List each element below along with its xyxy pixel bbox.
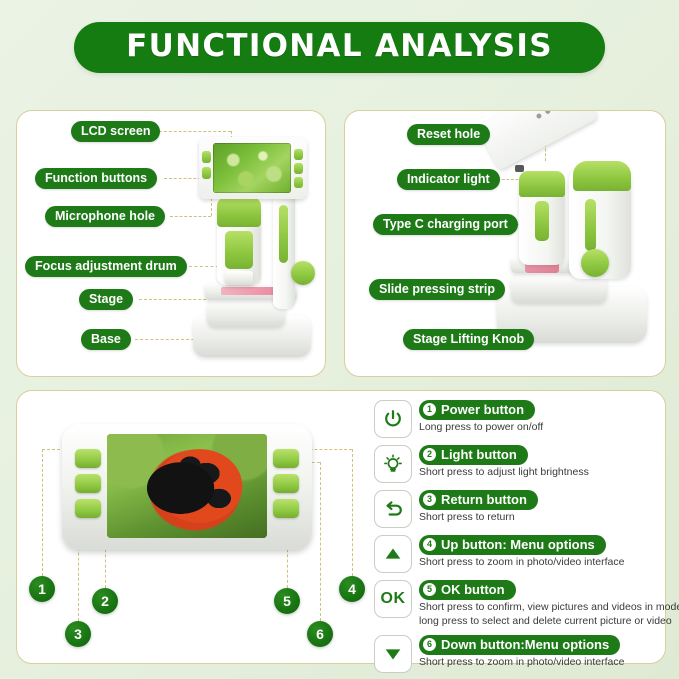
down-button-desc: Short press to zoom in photo/video inter…: [419, 656, 624, 669]
ok-icon-text: OK: [381, 590, 406, 608]
title-pill: FUNCTIONAL ANALYSIS: [74, 22, 605, 73]
callout-slide-pressing-strip[interactable]: Slide pressing strip: [369, 279, 505, 300]
button-row-down: 6 Down button:Menu options Short press t…: [374, 633, 662, 673]
device-badge-1[interactable]: 1: [29, 576, 55, 602]
callout-label: Stage Lifting Knob: [413, 332, 524, 346]
lcd-unit-illustration: [62, 424, 312, 550]
callout-label: LCD screen: [81, 124, 150, 138]
label-number: 6: [423, 638, 436, 651]
page-title-text: FUNCTIONAL ANALYSIS: [126, 28, 553, 64]
callout-type-c-charging-port[interactable]: Type C charging port: [373, 214, 518, 235]
device-button-2[interactable]: [75, 474, 101, 493]
down-button-label-pill[interactable]: 6 Down button:Menu options: [419, 635, 620, 655]
label-text: Light button: [441, 447, 517, 462]
device-button-4[interactable]: [273, 449, 299, 468]
ok-button-desc-line1: Short press to confirm, view pictures an…: [419, 601, 679, 614]
return-button-label-pill[interactable]: 3 Return button: [419, 490, 538, 510]
microscope-front-illustration: [187, 119, 317, 369]
device-badge-2[interactable]: 2: [92, 588, 118, 614]
device-button-5[interactable]: [273, 474, 299, 493]
callout-stage[interactable]: Stage: [79, 289, 133, 310]
label-text: Power button: [441, 402, 524, 417]
badge-number: 3: [74, 626, 82, 642]
badge-number: 6: [316, 626, 324, 642]
button-row-up: 4 Up button: Menu options Short press to…: [374, 533, 662, 573]
triangle-down-icon: [374, 635, 412, 673]
up-button-label-pill[interactable]: 4 Up button: Menu options: [419, 535, 606, 555]
device-button-3[interactable]: [75, 499, 101, 518]
callout-lcd-screen[interactable]: LCD screen: [71, 121, 160, 142]
callout-label: Indicator light: [407, 172, 490, 186]
power-button-label-pill[interactable]: 1 Power button: [419, 400, 535, 420]
device-button-6[interactable]: [273, 499, 299, 518]
callout-label: Reset hole: [417, 127, 480, 141]
callout-stage-lifting-knob[interactable]: Stage Lifting Knob: [403, 329, 534, 350]
badge-number: 1: [38, 581, 46, 597]
label-text: Up button: Menu options: [441, 537, 595, 552]
label-number: 5: [423, 583, 436, 596]
device-badge-3[interactable]: 3: [65, 621, 91, 647]
callout-label: Type C charging port: [383, 217, 508, 231]
callout-microphone-hole[interactable]: Microphone hole: [45, 206, 165, 227]
callout-label: Slide pressing strip: [379, 282, 495, 296]
leader-line: [320, 462, 321, 621]
return-button-desc: Short press to return: [419, 511, 538, 524]
button-row-power: 1 Power button Long press to power on/of…: [374, 398, 662, 438]
callout-indicator-light[interactable]: Indicator light: [397, 169, 500, 190]
label-number: 3: [423, 493, 436, 506]
button-row-ok: OK 5 OK button Short press to confirm, v…: [374, 578, 662, 628]
ok-button-desc-line2: long press to select and delete current …: [419, 615, 679, 628]
leader-line: [352, 449, 353, 576]
light-button-desc: Short press to adjust light brightness: [419, 466, 589, 479]
power-button-desc: Long press to power on/off: [419, 421, 543, 434]
label-number: 1: [423, 403, 436, 416]
page-title: FUNCTIONAL ANALYSIS: [0, 22, 679, 73]
device-button-1[interactable]: [75, 449, 101, 468]
light-button-label-pill[interactable]: 2 Light button: [419, 445, 528, 465]
device-badge-6[interactable]: 6: [307, 621, 333, 647]
return-arrow-icon: [374, 490, 412, 528]
label-number: 2: [423, 448, 436, 461]
callout-focus-adjustment-drum[interactable]: Focus adjustment drum: [25, 256, 187, 277]
device-badge-4[interactable]: 4: [339, 576, 365, 602]
button-function-list: 1 Power button Long press to power on/of…: [374, 398, 662, 678]
callout-label: Stage: [89, 292, 123, 306]
ok-button-label-pill[interactable]: 5 OK button: [419, 580, 516, 600]
leader-line: [42, 449, 43, 576]
infographic-root: FUNCTIONAL ANALYSIS: [0, 0, 679, 679]
button-row-light: 2 Light button Short press to adjust lig…: [374, 443, 662, 483]
badge-number: 4: [348, 581, 356, 597]
callout-label: Function buttons: [45, 171, 147, 185]
label-text: Down button:Menu options: [441, 637, 609, 652]
label-text: OK button: [441, 582, 505, 597]
callout-base[interactable]: Base: [81, 329, 131, 350]
up-button-desc: Short press to zoom in photo/video inter…: [419, 556, 624, 569]
device-badge-5[interactable]: 5: [274, 588, 300, 614]
panel-rear-view: Reset hole Indicator light Type C chargi…: [344, 110, 666, 377]
power-icon: [374, 400, 412, 438]
ok-icon: OK: [374, 580, 412, 618]
badge-number: 2: [101, 593, 109, 609]
callout-label: Microphone hole: [55, 209, 155, 223]
panel-front-view: LCD screen Function buttons Microphone h…: [16, 110, 326, 377]
callout-label: Focus adjustment drum: [35, 259, 177, 273]
callout-label: Base: [91, 332, 121, 346]
label-number: 4: [423, 538, 436, 551]
triangle-up-icon: [374, 535, 412, 573]
badge-number: 5: [283, 593, 291, 609]
callout-function-buttons[interactable]: Function buttons: [35, 168, 157, 189]
callout-reset-hole[interactable]: Reset hole: [407, 124, 490, 145]
button-row-return: 3 Return button Short press to return: [374, 488, 662, 528]
lightbulb-icon: [374, 445, 412, 483]
label-text: Return button: [441, 492, 527, 507]
